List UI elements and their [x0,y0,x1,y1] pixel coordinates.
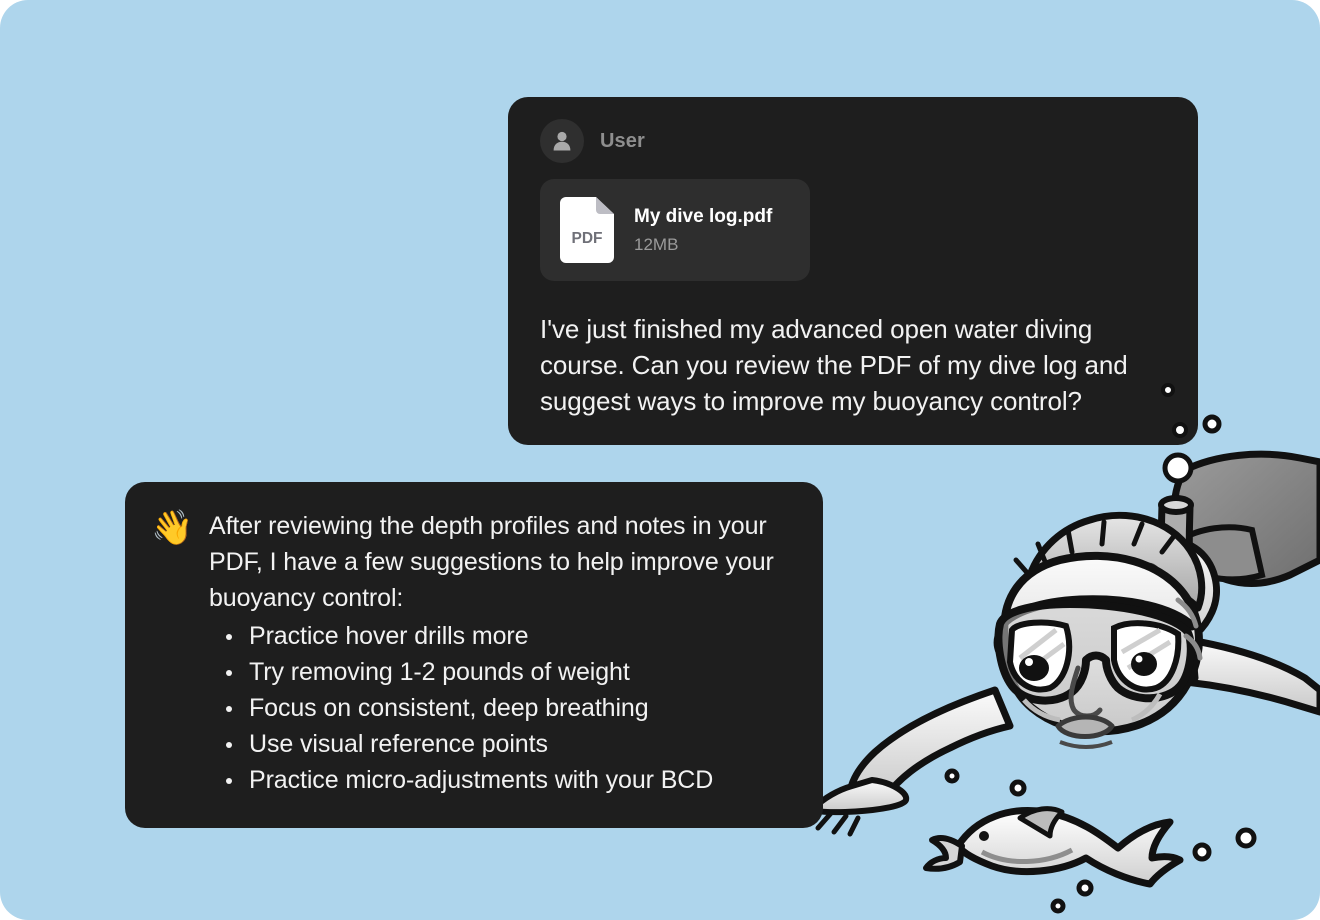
list-item: Try removing 1-2 pounds of weight [209,654,793,690]
svg-text:PDF: PDF [572,230,603,247]
page-root: User PDF My dive log.pdf 12MB I've just … [0,0,1320,920]
assistant-intro-text: After reviewing the depth profiles and n… [209,508,793,616]
user-message-text: I've just finished my advanced open wate… [540,311,1162,419]
assistant-message-bubble: 👋 After reviewing the depth profiles and… [125,482,823,828]
list-item: Use visual reference points [209,726,793,762]
assistant-suggestion-list: Practice hover drills more Try removing … [209,618,793,798]
pdf-attachment-meta: My dive log.pdf 12MB [634,206,772,255]
list-item: Focus on consistent, deep breathing [209,690,793,726]
waving-hand-emoji: 👋 [151,508,199,798]
pdf-file-icon: PDF [560,197,614,263]
chat-conversation: User PDF My dive log.pdf 12MB I've just … [0,0,1320,920]
pdf-filename: My dive log.pdf [634,206,772,228]
list-item: Practice micro-adjustments with your BCD [209,762,793,798]
pdf-filesize: 12MB [634,235,772,255]
user-avatar-icon [540,119,584,163]
list-item: Practice hover drills more [209,618,793,654]
user-author-label: User [600,130,645,153]
pdf-attachment-card[interactable]: PDF My dive log.pdf 12MB [540,179,810,281]
user-message-bubble: User PDF My dive log.pdf 12MB I've just … [508,97,1198,445]
user-message-header: User [540,119,1162,163]
